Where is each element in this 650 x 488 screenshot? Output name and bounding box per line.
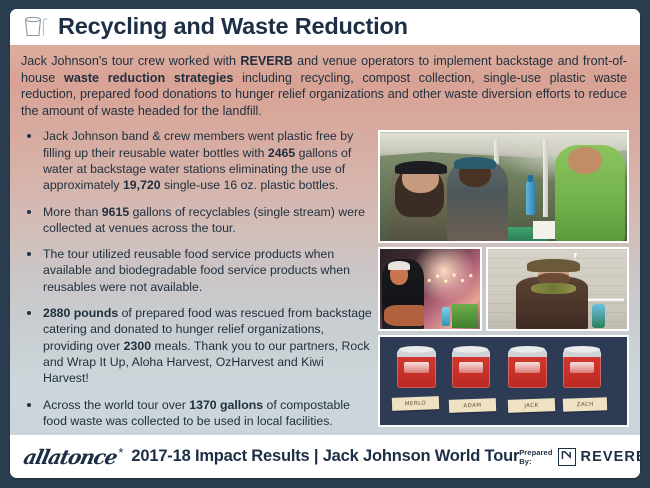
reusable-bottle-icon <box>526 181 535 215</box>
reusable-cup-icon <box>397 348 435 388</box>
string-lights <box>424 267 476 294</box>
reusable-bottle-icon <box>592 304 605 328</box>
bullet-text-3a: The tour utilized reusable food service … <box>43 247 350 294</box>
intro-paragraph: Jack Johnson's tour crew worked with REV… <box>21 53 629 119</box>
bullet-stat-1370-gallons: 1370 gallons <box>189 398 263 412</box>
bullet-stat-9615: 9615 <box>102 205 129 219</box>
cup-name-label: ADAM <box>449 398 496 413</box>
cup-name-label: ZACH <box>563 397 608 412</box>
recycling-bin <box>452 304 478 328</box>
list-item: 2880 pounds of prepared food was rescued… <box>21 305 372 386</box>
reusable-cup-icon <box>442 307 450 326</box>
person-hat <box>527 259 580 272</box>
labeled-cups-photo: MERLO ADAM JACK ZACH <box>378 335 629 427</box>
bullet-text-2a: More than <box>43 205 102 219</box>
cup-name-label: MERLO <box>392 396 439 411</box>
prepared-by-label: Prepared By: <box>519 448 552 466</box>
cup-name-label: JACK <box>508 398 555 413</box>
person-scarf <box>531 283 575 294</box>
intro-text-1: Jack Johnson's tour crew worked with <box>21 54 240 68</box>
slide-header: Recycling and Waste Reduction <box>10 9 640 45</box>
slide-card: Recycling and Waste Reduction Jack Johns… <box>10 9 640 478</box>
person-cap <box>454 157 496 169</box>
list-item: Jack Johnson band & crew members went pl… <box>21 128 372 193</box>
prepared-by-block: Prepared By: REVERB <box>519 448 640 466</box>
reusable-cup-icon <box>452 348 490 388</box>
reverb-wordmark: REVERB <box>581 449 640 465</box>
bullet-text-1c: single-use 16 oz. plastic bottles. <box>161 178 339 192</box>
person-head <box>568 147 603 174</box>
reusable-cup-icon <box>563 348 601 388</box>
content-columns: Jack Johnson band & crew members went pl… <box>21 128 629 429</box>
slide-frame: Recycling and Waste Reduction Jack Johns… <box>0 0 650 488</box>
bullet-dot-icon <box>27 252 31 256</box>
slide-body: Jack Johnson's tour crew worked with REV… <box>10 45 640 435</box>
bullet-stat-19720: 19,720 <box>123 178 161 192</box>
page-title: Recycling and Waste Reduction <box>58 15 408 39</box>
photo-collage: MERLO ADAM JACK ZACH <box>378 128 629 427</box>
list-item: More than 9615 gallons of recyclables (s… <box>21 204 372 237</box>
bullet-column: Jack Johnson band & crew members went pl… <box>21 128 378 429</box>
bullet-stat-2465: 2465 <box>268 146 295 160</box>
reverb-logo-icon <box>558 448 576 466</box>
bullet-dot-icon <box>27 134 31 138</box>
bullet-dot-icon <box>27 403 31 407</box>
venue-bar-photo <box>378 247 482 331</box>
bullet-dot-icon <box>27 210 31 214</box>
person-cap <box>395 161 447 174</box>
cup-and-bottle-icon <box>21 14 51 40</box>
water-station-photo <box>378 130 629 243</box>
list-item: Across the world tour over 1370 gallons … <box>21 397 372 430</box>
intro-bold-strategies: waste reduction strategies <box>64 71 233 85</box>
allatonce-asterisk-icon: * <box>118 445 123 460</box>
allatonce-logo: allatonce <box>21 445 118 469</box>
impact-bullet-list: Jack Johnson band & crew members went pl… <box>21 128 372 429</box>
intro-bold-reverb: REVERB <box>240 54 292 68</box>
list-item: The tour utilized reusable food service … <box>21 246 372 295</box>
bullet-stat-2880-pounds: 2880 pounds <box>43 306 118 320</box>
footer-title: 2017-18 Impact Results | Jack Johnson Wo… <box>131 447 519 466</box>
reusable-cup-icon <box>508 348 546 388</box>
person-arm <box>384 305 424 326</box>
bullet-stat-2300: 2300 <box>124 339 151 353</box>
bullet-text-5a: Across the world tour over <box>43 398 189 412</box>
bullet-dot-icon <box>27 311 31 315</box>
person-cap <box>388 261 410 270</box>
tent-pole <box>543 139 548 217</box>
slide-footer: allatonce * 2017-18 Impact Results | Jac… <box>10 435 640 478</box>
festival-attendee-photo <box>486 247 629 331</box>
photo-row <box>378 247 629 331</box>
